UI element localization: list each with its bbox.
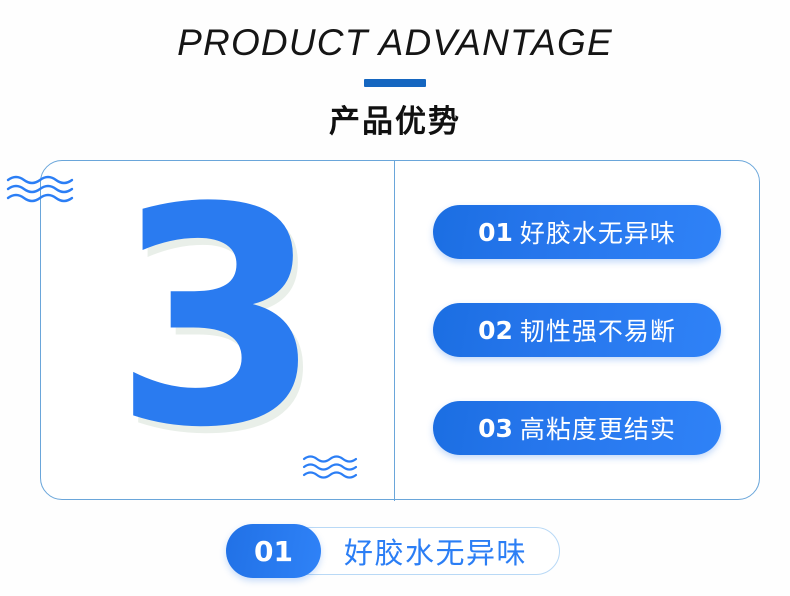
page-title-english: PRODUCT ADVANTAGE (0, 24, 790, 61)
feature-pill-label: 韧性强不易断 (520, 312, 676, 348)
big-numeral: 3 (41, 169, 394, 469)
feature-list: 01 好胶水无异味 02 韧性强不易断 03 高粘度更结实 (393, 160, 762, 500)
card-left-panel: 3 (41, 161, 394, 501)
feature-pill-label: 高粘度更结实 (520, 410, 676, 446)
feature-pill-number: 02 (478, 316, 513, 345)
wave-lines-icon (6, 172, 74, 211)
feature-pill-number: 03 (478, 414, 513, 443)
title-divider-rule (364, 79, 426, 87)
page-title-chinese: 产品优势 (0, 107, 790, 138)
feature-pill-02[interactable]: 02 韧性强不易断 (433, 303, 721, 357)
wave-lines-icon (302, 452, 358, 487)
bottom-banner[interactable]: 01 好胶水无异味 (233, 527, 560, 575)
product-advantage-page: PRODUCT ADVANTAGE 产品优势 3 01 好胶水无异味 (0, 0, 790, 596)
banner-number: 01 (254, 535, 293, 568)
banner-number-badge: 01 (226, 524, 321, 578)
banner-label: 好胶水无异味 (344, 530, 527, 572)
feature-pill-label: 好胶水无异味 (520, 214, 676, 250)
feature-pill-01[interactable]: 01 好胶水无异味 (433, 205, 721, 259)
page-header: PRODUCT ADVANTAGE 产品优势 (0, 0, 790, 138)
feature-pill-number: 01 (478, 218, 513, 247)
feature-pill-03[interactable]: 03 高粘度更结实 (433, 401, 721, 455)
